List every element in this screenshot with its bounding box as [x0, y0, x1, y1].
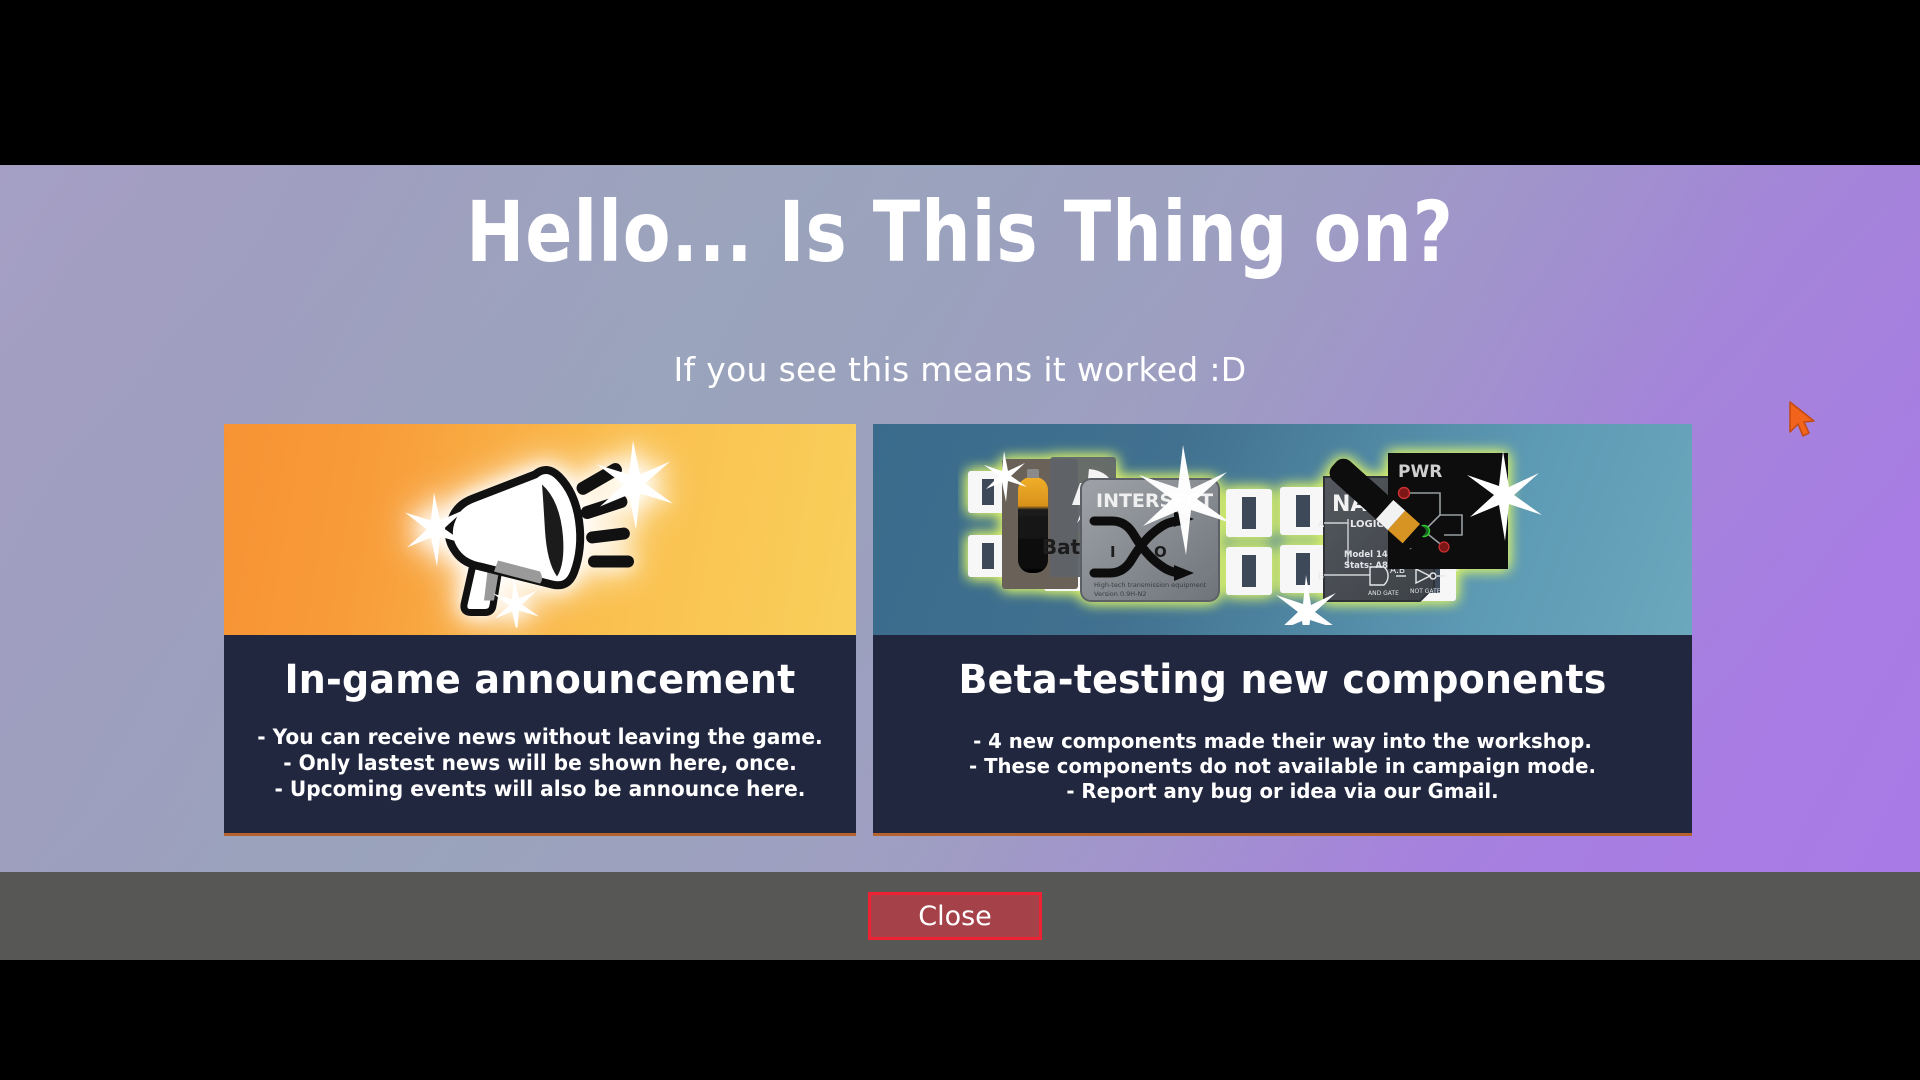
- card-line: - Only lastest news will be shown here, …: [250, 751, 830, 777]
- card-line: - Upcoming events will also be announce …: [250, 777, 830, 803]
- svg-text:A: A: [1318, 520, 1325, 530]
- svg-text:NOT GATE: NOT GATE: [1410, 588, 1441, 595]
- card-line: - 4 new components made their way into t…: [903, 729, 1662, 754]
- announcement-popup: Hello... Is This Thing on? If you see th…: [0, 165, 1920, 872]
- card-title-announcement: In-game announcement: [240, 657, 840, 703]
- cards-container: In-game announcement - You can receive n…: [224, 424, 1692, 836]
- card-in-game-announcement[interactable]: In-game announcement - You can receive n…: [224, 424, 856, 836]
- svg-text:AND GATE: AND GATE: [1368, 590, 1399, 597]
- card-beta-testing[interactable]: Battery INTERSECT: [873, 424, 1692, 836]
- page-subtitle: If you see this means it worked :D: [0, 350, 1920, 389]
- card-title-beta: Beta-testing new components: [893, 657, 1671, 703]
- game-screen: Hello... Is This Thing on? If you see th…: [0, 0, 1920, 1080]
- close-button[interactable]: Close: [868, 892, 1042, 940]
- card-body-announcement: - You can receive news without leaving t…: [224, 725, 856, 802]
- page-title: Hello... Is This Thing on?: [77, 190, 1843, 274]
- card-body-beta: - 4 new components made their way into t…: [873, 729, 1692, 805]
- svg-text:Version 0.9H-N2: Version 0.9H-N2: [1094, 590, 1147, 598]
- letterbox-bottom: [0, 960, 1920, 1080]
- card-line: - You can receive news without leaving t…: [250, 725, 830, 751]
- svg-text:I: I: [1110, 543, 1116, 561]
- svg-text:High-tech transmission equipme: High-tech transmission equipment: [1094, 581, 1207, 589]
- card-banner-components: Battery INTERSECT: [873, 424, 1692, 635]
- megaphone-icon: [390, 432, 690, 627]
- card-line: - Report any bug or idea via our Gmail.: [903, 779, 1662, 804]
- card-line: - These components do not available in c…: [903, 754, 1662, 779]
- letterbox-top: [0, 0, 1920, 165]
- electronic-components-icon: Battery INTERSECT: [958, 435, 1608, 625]
- svg-text:PWR: PWR: [1398, 462, 1442, 482]
- svg-text:O: O: [1154, 543, 1167, 561]
- card-banner-announcement: [224, 424, 856, 635]
- svg-text:B: B: [1318, 572, 1324, 582]
